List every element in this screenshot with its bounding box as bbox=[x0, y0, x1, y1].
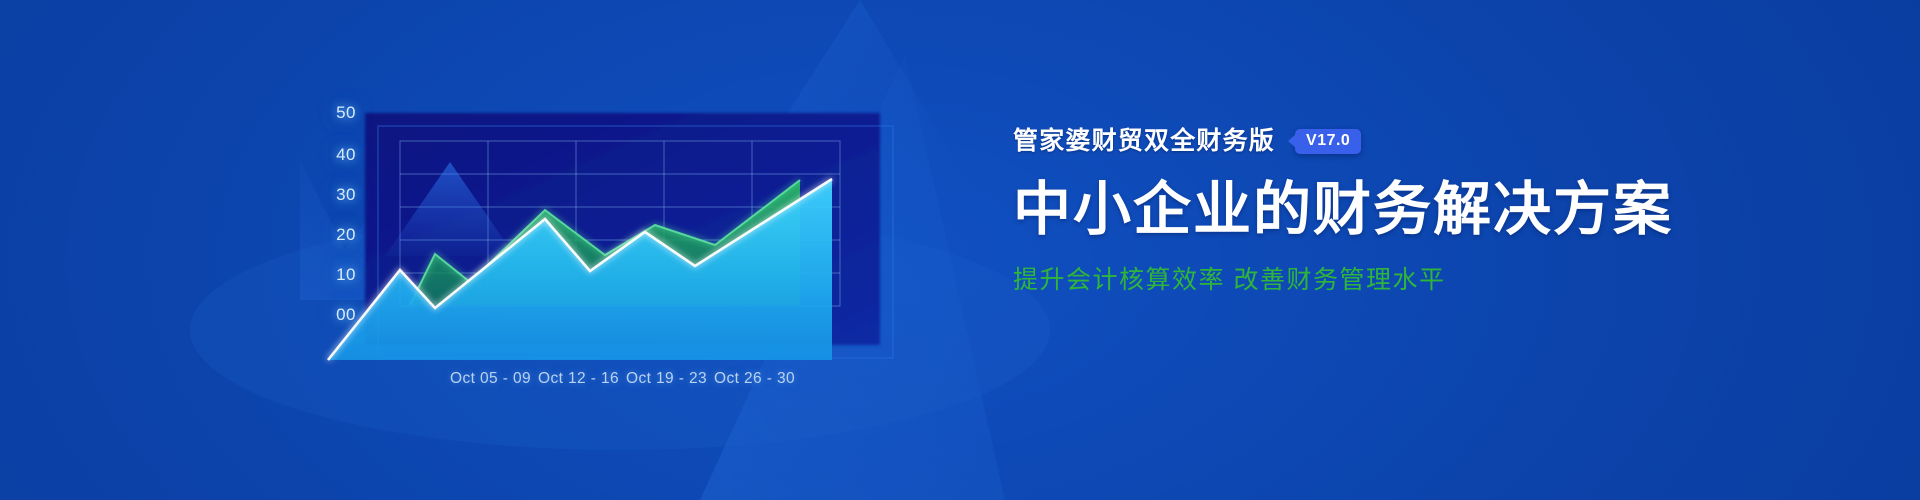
y-tick-30: 30 bbox=[336, 186, 356, 203]
product-name: 管家婆财贸双全财务版 bbox=[1013, 129, 1275, 154]
x-tick-4: Oct 26 - 30 bbox=[714, 370, 795, 388]
product-row: 管家婆财贸双全财务版 V17.0 bbox=[1013, 124, 1653, 158]
x-tick-1: Oct 05 - 09 bbox=[450, 370, 531, 388]
x-axis-labels: Oct 05 - 09 Oct 12 - 16 Oct 19 - 23 Oct … bbox=[450, 370, 980, 394]
x-tick-2: Oct 12 - 16 bbox=[538, 370, 619, 388]
x-tick-3: Oct 19 - 23 bbox=[626, 370, 707, 388]
marketing-banner: 50 40 30 20 10 00 Oct 05 - 09 Oct 12 - 1… bbox=[0, 0, 1920, 500]
chart-canvas bbox=[300, 60, 980, 420]
headline: 中小企业的财务解决方案 bbox=[1013, 180, 1653, 241]
y-tick-10: 10 bbox=[336, 266, 356, 283]
growth-chart: 50 40 30 20 10 00 Oct 05 - 09 Oct 12 - 1… bbox=[300, 60, 980, 420]
version-badge: V17.0 bbox=[1295, 129, 1361, 154]
y-tick-50: 50 bbox=[336, 104, 356, 121]
y-tick-20: 20 bbox=[336, 226, 356, 243]
y-tick-40: 40 bbox=[336, 146, 356, 163]
y-axis-labels: 50 40 30 20 10 00 bbox=[312, 60, 356, 360]
y-tick-00: 00 bbox=[336, 306, 356, 323]
copy-column: 管家婆财贸双全财务版 V17.0 中小企业的财务解决方案 提升会计核算效率 改善… bbox=[1013, 124, 1653, 295]
subheadline: 提升会计核算效率 改善财务管理水平 bbox=[1013, 265, 1653, 295]
